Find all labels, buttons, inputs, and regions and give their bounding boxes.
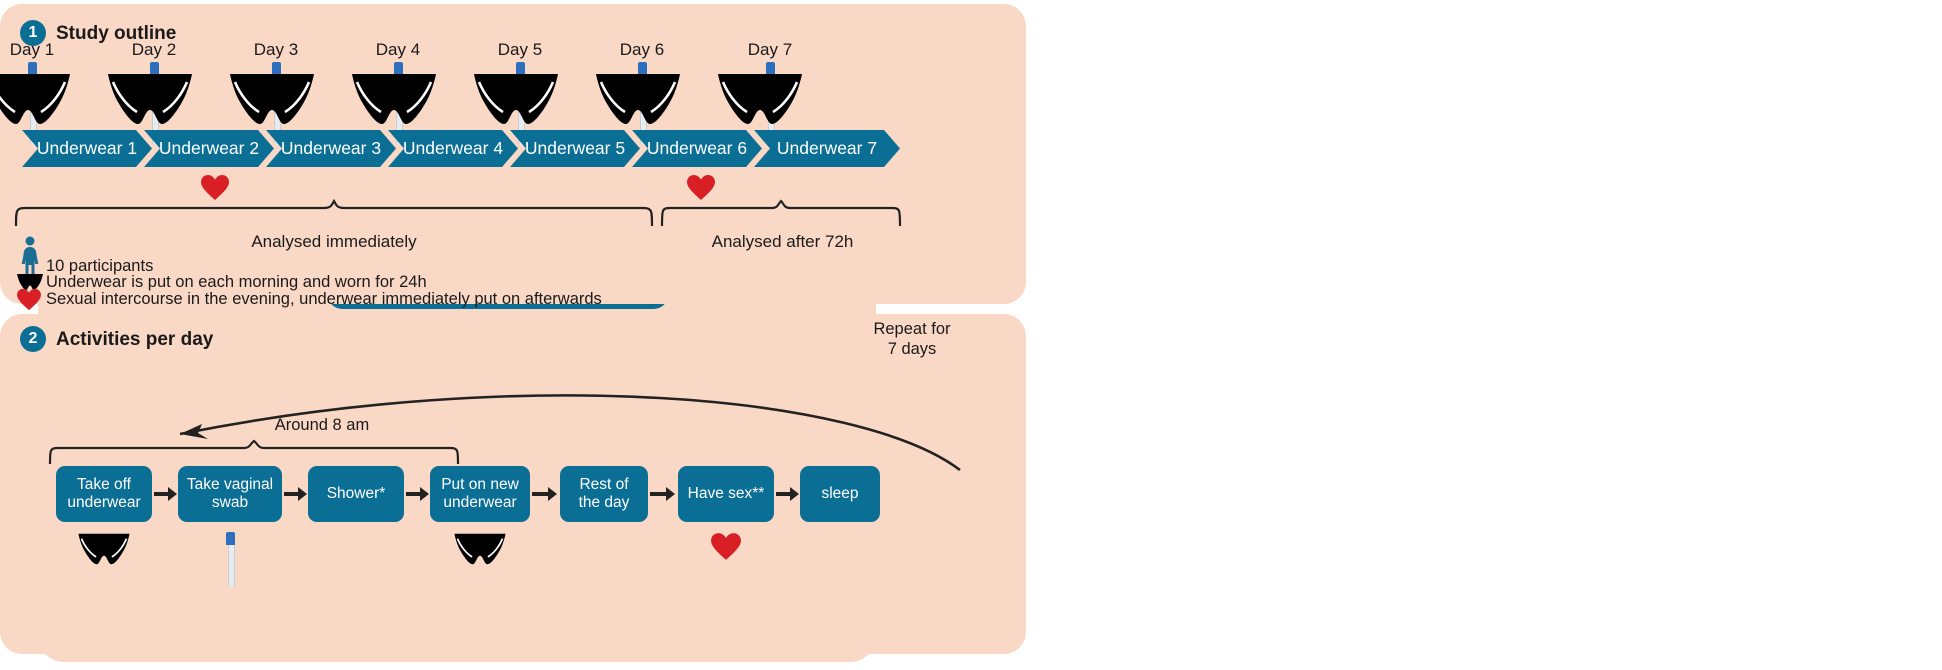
flow-step-line1: Take vaginal <box>187 476 273 494</box>
flow-step-line1: Shower* <box>327 485 386 503</box>
underwear-icon-5 <box>470 72 562 126</box>
heart-icon-day2 <box>200 174 230 201</box>
flow-step-line1: Have sex** <box>688 485 765 503</box>
day-label-7: Day 7 <box>730 40 810 60</box>
underwear-icon-7 <box>714 72 806 126</box>
underwear-step-1[interactable]: Underwear 1 <box>22 130 152 167</box>
flow-step-put-on-new-underwear[interactable]: Put on new underwear <box>430 466 530 522</box>
underwear-step-5[interactable]: Underwear 5 <box>510 130 640 167</box>
panel-b-container: 1 Study outline Day 1 Day 2 Day 3 Day 4 … <box>0 0 1026 654</box>
underwear-step-7[interactable]: Underwear 7 <box>754 130 900 167</box>
flow-arrow-1 <box>154 486 178 502</box>
brace-analysed-after-72h <box>660 200 902 228</box>
activities-per-day-section: 2 Activities per day Repeat for 7 days A… <box>0 314 1026 654</box>
flow-step-shower[interactable]: Shower* <box>308 466 404 522</box>
section-number-badge-2: 2 <box>20 326 46 352</box>
brace-analysed-immediately <box>14 200 654 228</box>
person-icon-legend <box>20 236 40 276</box>
repeat-label-line2: 7 days <box>842 340 982 360</box>
day-label-1: Day 1 <box>0 40 72 60</box>
underwear-icon-step1 <box>76 532 132 566</box>
legend-intercourse: Sexual intercourse in the evening, under… <box>46 290 602 309</box>
day-label-4: Day 4 <box>358 40 438 60</box>
underwear-icon-1 <box>0 72 74 126</box>
flow-step-line2: underwear <box>441 494 519 512</box>
heart-icon-day6 <box>686 174 716 201</box>
flow-step-have-sex[interactable]: Have sex** <box>678 466 774 522</box>
flow-step-take-vaginal-swab[interactable]: Take vaginal swab <box>178 466 282 522</box>
underwear-icon-4 <box>348 72 440 126</box>
flow-step-rest-of-the-day[interactable]: Rest of the day <box>560 466 648 522</box>
flow-step-line1: Rest of <box>579 476 630 494</box>
flow-step-line1: Take off <box>67 476 140 494</box>
underwear-icon-3 <box>226 72 318 126</box>
swab-icon-step2 <box>226 532 235 587</box>
underwear-step-4[interactable]: Underwear 4 <box>388 130 518 167</box>
brace-label-delayed: Analysed after 72h <box>690 232 875 252</box>
underwear-step-3[interactable]: Underwear 3 <box>266 130 396 167</box>
flow-step-line1: Put on new <box>441 476 519 494</box>
day-label-6: Day 6 <box>602 40 682 60</box>
brace-label-immediate: Analysed immediately <box>234 232 434 252</box>
flow-step-sleep[interactable]: sleep <box>800 466 880 522</box>
day-label-2: Day 2 <box>114 40 194 60</box>
flow-step-line2: underwear <box>67 494 140 512</box>
underwear-step-2[interactable]: Underwear 2 <box>144 130 274 167</box>
day-label-3: Day 3 <box>236 40 316 60</box>
day-label-5: Day 5 <box>480 40 560 60</box>
heart-icon-step6 <box>710 532 742 561</box>
underwear-icon-2 <box>104 72 196 126</box>
flow-arrow-2 <box>284 486 308 502</box>
around-8am-label: Around 8 am <box>222 416 422 435</box>
flow-arrow-6 <box>776 486 800 502</box>
flow-arrow-4 <box>532 486 558 502</box>
underwear-icon-6 <box>592 72 684 126</box>
underwear-step-6[interactable]: Underwear 6 <box>632 130 762 167</box>
flow-step-take-off-underwear[interactable]: Take off underwear <box>56 466 152 522</box>
underwear-icon-step4 <box>452 532 508 566</box>
flow-step-line2: swab <box>187 494 273 512</box>
flow-step-line1: sleep <box>821 485 858 503</box>
brace-morning-steps <box>48 440 460 466</box>
flow-arrow-3 <box>406 486 430 502</box>
repeat-label-line1: Repeat for <box>842 320 982 340</box>
study-outline-section: 1 Study outline Day 1 Day 2 Day 3 Day 4 … <box>0 4 1026 304</box>
flow-step-line2: the day <box>579 494 630 512</box>
section-title-activities: Activities per day <box>56 329 213 351</box>
flow-arrow-5 <box>650 486 676 502</box>
heart-icon-legend <box>16 288 42 311</box>
